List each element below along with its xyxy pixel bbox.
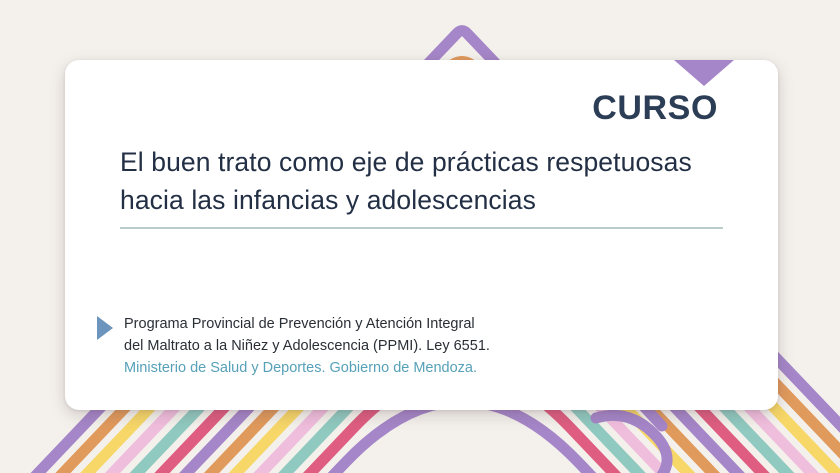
title-line-2: hacia las infancias y adolescencias bbox=[120, 182, 740, 220]
footer-organization: Ministerio de Salud y Deportes. Gobierno… bbox=[124, 357, 490, 379]
footer-text: Programa Provincial de Prevención y Aten… bbox=[124, 313, 490, 379]
page-title: El buen trato como eje de prácticas resp… bbox=[120, 144, 740, 219]
slide-canvas: CURSO El buen trato como eje de práctica… bbox=[0, 0, 840, 473]
title-line-1: El buen trato como eje de prácticas resp… bbox=[120, 144, 740, 182]
footer-block: Programa Provincial de Prevención y Aten… bbox=[97, 313, 490, 379]
blue-arrow-icon bbox=[97, 316, 113, 340]
footer-line-2: del Maltrato a la Niñez y Adolescencia (… bbox=[124, 335, 490, 357]
course-card: CURSO El buen trato como eje de práctica… bbox=[65, 60, 778, 410]
course-card-content: CURSO El buen trato como eje de práctica… bbox=[65, 60, 778, 410]
footer-line-1: Programa Provincial de Prevención y Aten… bbox=[124, 313, 490, 335]
eyebrow-label: CURSO bbox=[592, 91, 718, 125]
title-divider bbox=[120, 227, 723, 229]
